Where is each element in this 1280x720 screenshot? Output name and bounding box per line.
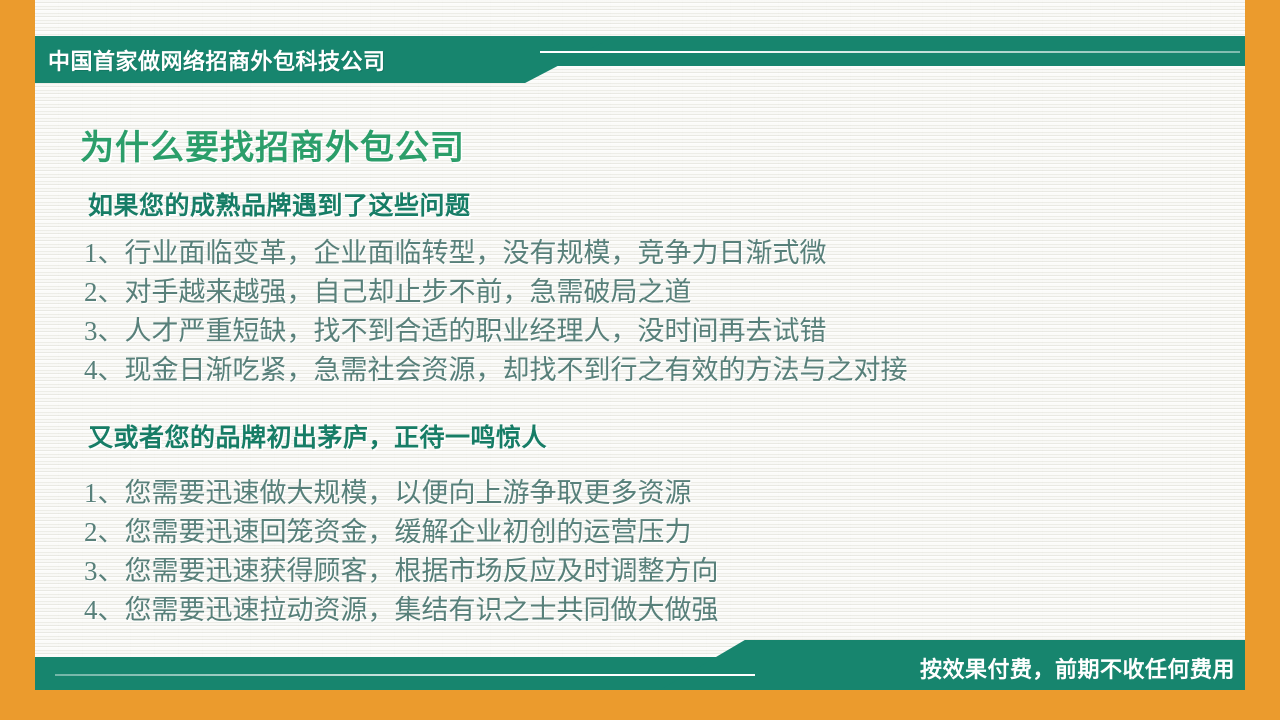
footer-divider-line	[55, 674, 755, 676]
slide-canvas: 中国首家做网络招商外包科技公司 为什么要找招商外包公司 如果您的成熟品牌遇到了这…	[0, 0, 1280, 720]
footer-tagline: 按效果付费，前期不收任何费用	[920, 652, 1235, 684]
list-item: 3、人才严重短缺，找不到合适的职业经理人，没时间再去试错	[84, 312, 908, 351]
header-divider-line	[540, 51, 1240, 53]
list-item: 4、现金日渐吃紧，急需社会资源，却找不到行之有效的方法与之对接	[84, 351, 908, 390]
section-heading-2: 又或者您的品牌初出茅庐，正待一鸣惊人	[88, 418, 547, 454]
list-item: 2、对手越来越强，自己却止步不前，急需破局之道	[84, 273, 908, 312]
list-item: 3、您需要迅速获得顾客，根据市场反应及时调整方向	[84, 552, 719, 591]
list-item: 4、您需要迅速拉动资源，集结有识之士共同做大做强	[84, 591, 719, 630]
list-item: 2、您需要迅速回笼资金，缓解企业初创的运营压力	[84, 513, 719, 552]
header-title: 中国首家做网络招商外包科技公司	[48, 44, 386, 76]
list-item: 1、您需要迅速做大规模，以便向上游争取更多资源	[84, 474, 719, 513]
page-title: 为什么要找招商外包公司	[80, 120, 465, 169]
list-item: 1、行业面临变革，企业面临转型，没有规模，竞争力日渐式微	[84, 234, 908, 273]
section-list-2: 1、您需要迅速做大规模，以便向上游争取更多资源 2、您需要迅速回笼资金，缓解企业…	[84, 474, 719, 630]
section-heading-1: 如果您的成熟品牌遇到了这些问题	[88, 186, 471, 222]
section-list-1: 1、行业面临变革，企业面临转型，没有规模，竞争力日渐式微 2、对手越来越强，自己…	[84, 234, 908, 390]
